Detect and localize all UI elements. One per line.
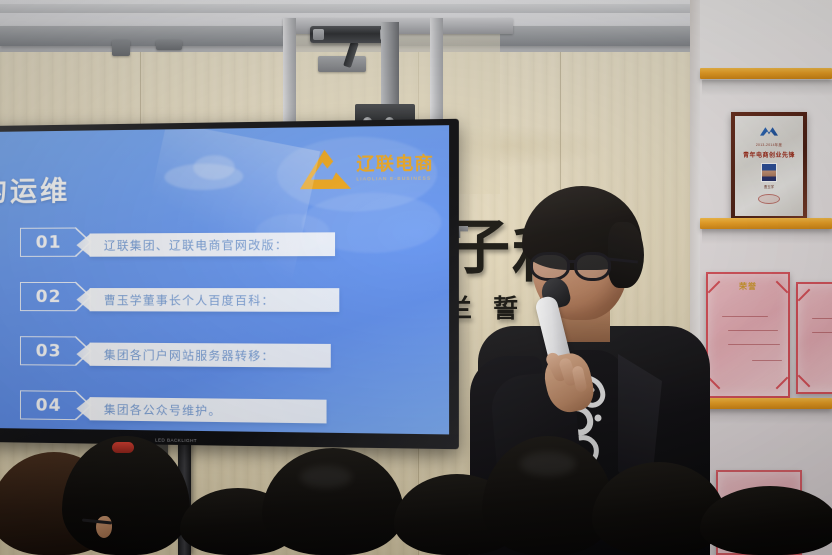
slide-item-text: 辽联集团、辽联电商官网改版： <box>90 236 289 253</box>
logo-text-cn: 辽联电商 <box>356 155 434 174</box>
slide-item-number: 04 <box>20 390 76 420</box>
slide-list-item: 04 集团各公众号维护。 <box>20 390 327 423</box>
slide-item-text: 曹玉学董事长个人百度百科： <box>90 292 275 309</box>
presentation-photo-scene: 子 和 泽 兰 誓 不 2013-2014年度 青年电商创业先锋 曹玉学 <box>0 0 832 555</box>
presentation-slide: 的运维 辽联电商 LIAOLIAN E-BUSINESS 01 <box>0 125 449 434</box>
slide-item-text: 集团各门户网站服务器转移： <box>90 346 275 364</box>
certificate-seal-icon <box>758 194 780 204</box>
slide-item-number: 01 <box>20 228 76 257</box>
television: 的运维 辽联电商 LIAOLIAN E-BUSINESS 01 <box>0 119 459 449</box>
ceiling-trim-upper <box>0 4 700 13</box>
slide-item-bar: 集团各公众号维护。 <box>90 397 327 423</box>
mountain-logo-icon <box>300 149 349 189</box>
cabinet-shelf-edge <box>700 218 832 229</box>
tv-wall-mount-post <box>381 22 399 112</box>
certificate-name: 曹玉学 <box>764 184 774 189</box>
hair-highlight <box>520 452 576 476</box>
slide-item-bar: 曹玉学董事长个人百度百科： <box>90 288 340 312</box>
speaker-eyeglasses <box>530 252 634 282</box>
slide-title: 的运维 <box>0 169 70 209</box>
plaque-honor-label: 荣誉 <box>739 281 757 292</box>
shelf-shadow <box>702 408 832 424</box>
certificate-title: 青年电商创业先锋 <box>743 150 795 159</box>
slide-item-text: 集团各公众号维护。 <box>90 401 222 419</box>
cabinet-shelf-edge <box>700 68 832 79</box>
slide-item-bar: 集团各门户网站服务器转移： <box>90 343 331 368</box>
hair-highlight <box>300 466 352 488</box>
certificate-year: 2013-2014年度 <box>756 142 782 147</box>
crystal-plaque: 荣誉 <box>706 272 790 398</box>
ceiling-fixture <box>112 40 130 56</box>
certificate-emblem-icon <box>758 125 780 139</box>
hair-tie <box>112 442 134 453</box>
chevron-right-icon <box>75 391 91 420</box>
slide-logo: 辽联电商 LIAOLIAN E-BUSINESS <box>300 148 434 189</box>
tv-screen: 的运维 辽联电商 LIAOLIAN E-BUSINESS 01 <box>0 125 449 434</box>
crystal-plaque <box>796 282 832 394</box>
slide-item-bar: 辽联集团、辽联电商官网改版： <box>90 232 335 256</box>
shelf-shadow <box>702 228 832 244</box>
chevron-right-icon <box>75 282 91 311</box>
slide-list-item: 03 集团各门户网站服务器转移： <box>20 336 331 368</box>
tv-brand-label: LED BACKLIGHT <box>155 437 197 443</box>
slide-list-item: 01 辽联集团、辽联电商官网改版： <box>20 226 335 257</box>
slide-item-number: 02 <box>20 282 76 311</box>
ceiling-fixture <box>156 40 182 50</box>
framed-certificate: 2013-2014年度 青年电商创业先锋 曹玉学 <box>731 112 807 220</box>
door-closer-plate <box>318 56 366 72</box>
slide-list-item: 02 曹玉学董事长个人百度百科： <box>20 282 339 312</box>
cabinet-shelf-edge <box>700 398 832 409</box>
chevron-right-icon <box>75 336 91 365</box>
shelf-shadow <box>702 80 832 96</box>
chevron-right-icon <box>75 227 91 256</box>
certificate-portrait <box>761 163 777 182</box>
slide-item-number: 03 <box>20 336 76 366</box>
logo-text-en: LIAOLIAN E-BUSINESS <box>356 176 434 182</box>
